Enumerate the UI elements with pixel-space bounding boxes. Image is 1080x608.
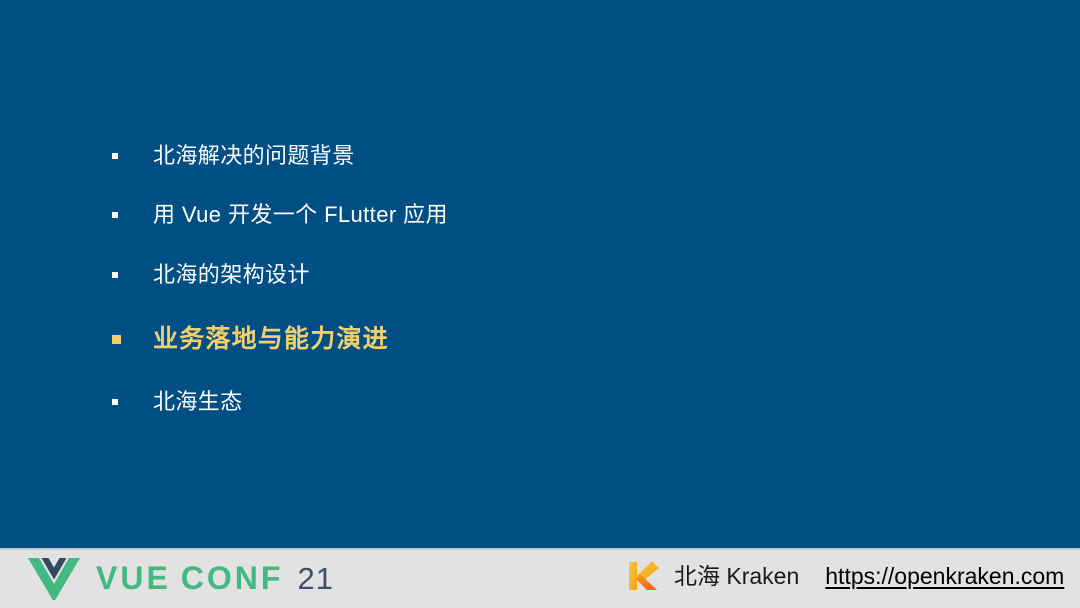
agenda-item-0[interactable]: 北海解决的问题背景 — [112, 139, 355, 173]
kraken-k-logo-icon — [626, 559, 660, 593]
agenda-item-4[interactable]: 北海生态 — [112, 385, 243, 419]
vueconf-word-vue: VUE — [96, 562, 171, 594]
agenda-item-label: 北海解决的问题背景 — [153, 139, 355, 173]
agenda-item-label: 北海生态 — [153, 385, 243, 419]
agenda-item-label: 北海的架构设计 — [153, 258, 310, 292]
agenda-item-2[interactable]: 北海的架构设计 — [112, 258, 310, 292]
agenda-list: 北海解决的问题背景 用 Vue 开发一个 FLutter 应用 北海的架构设计 … — [0, 0, 1080, 548]
vueconf-year: 21 — [297, 563, 333, 594]
vueconf-wordmark: VUE CONF 21 — [96, 562, 334, 594]
kraken-brand-lockup: 北海 Kraken https://openkraken.com — [626, 559, 1064, 593]
agenda-item-1[interactable]: 用 Vue 开发一个 FLutter 应用 — [112, 198, 448, 232]
presentation-slide: 北海解决的问题背景 用 Vue 开发一个 FLutter 应用 北海的架构设计 … — [0, 0, 1080, 608]
vue-logo-icon — [28, 556, 80, 600]
agenda-item-3-active[interactable]: 业务落地与能力演进 — [112, 322, 389, 356]
square-bullet-icon — [112, 399, 118, 405]
square-bullet-icon — [112, 212, 118, 218]
agenda-item-label: 用 Vue 开发一个 FLutter 应用 — [153, 198, 448, 232]
square-bullet-icon — [112, 153, 118, 159]
vueconf-brand-lockup: VUE CONF 21 — [28, 556, 334, 600]
square-bullet-icon — [112, 272, 118, 278]
kraken-website-url[interactable]: https://openkraken.com — [825, 565, 1064, 588]
kraken-brand-name: 北海 Kraken — [674, 565, 799, 588]
square-bullet-icon — [112, 335, 121, 344]
vueconf-word-conf: CONF — [181, 562, 284, 594]
slide-footer: VUE CONF 21 — [0, 548, 1080, 608]
agenda-item-label: 业务落地与能力演进 — [153, 322, 389, 356]
